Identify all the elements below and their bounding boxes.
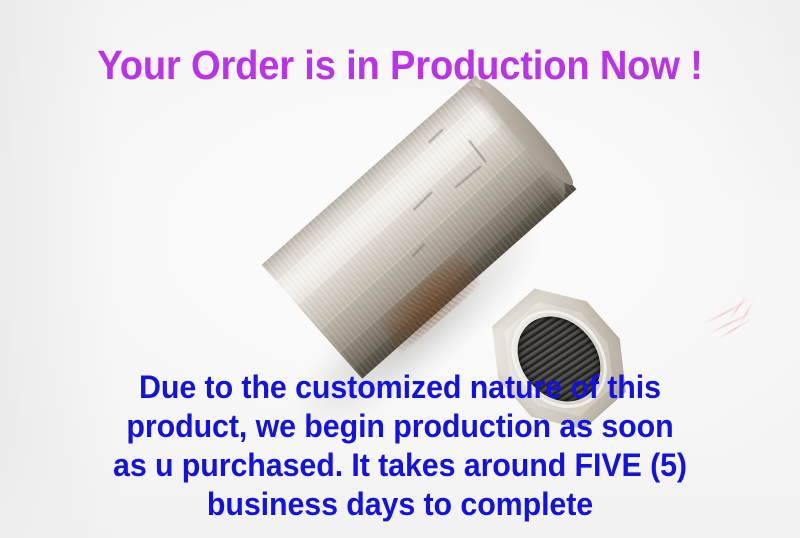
body-line-2: product, we begin production as soon — [20, 407, 780, 446]
headline-text: Your Order is in Production Now ! — [28, 42, 772, 88]
pink-scratch-artifact — [700, 288, 776, 346]
body-copy: Due to the customized nature of this pro… — [20, 368, 780, 524]
background-gradient-topright — [650, 0, 800, 200]
body-line-1: Due to the customized nature of this — [20, 368, 780, 407]
body-line-4: business days to complete — [20, 485, 780, 524]
body-line-3: as u purchased. It takes around FIVE (5) — [20, 446, 780, 485]
product-photo — [250, 105, 600, 375]
notice-graphic: Your Order is in Production Now ! — [0, 0, 800, 538]
